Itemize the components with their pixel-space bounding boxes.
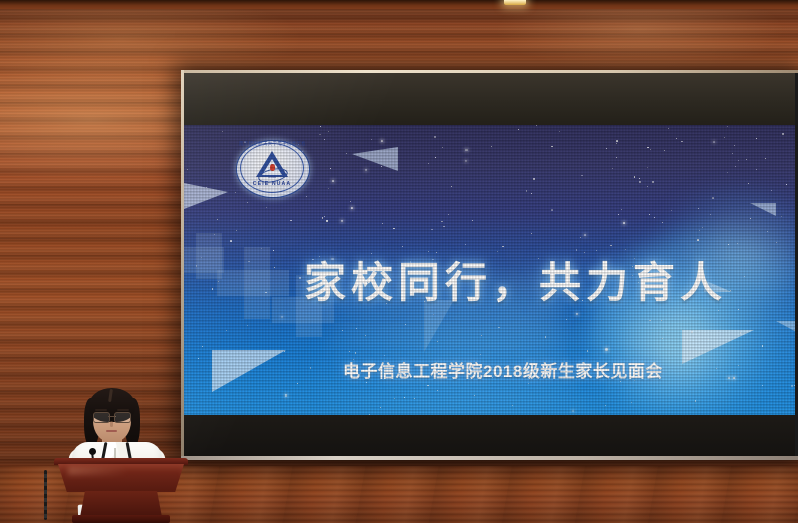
star bbox=[756, 169, 758, 171]
star bbox=[702, 227, 703, 228]
star bbox=[434, 136, 436, 138]
star bbox=[427, 385, 429, 387]
star bbox=[382, 223, 384, 225]
star bbox=[284, 351, 285, 352]
star bbox=[299, 277, 301, 279]
star bbox=[436, 252, 437, 253]
star bbox=[297, 383, 298, 384]
star bbox=[649, 214, 650, 215]
star bbox=[639, 178, 640, 179]
star bbox=[384, 355, 386, 357]
star bbox=[319, 256, 321, 258]
star bbox=[744, 276, 745, 277]
star bbox=[612, 168, 613, 169]
triangle-shape bbox=[424, 300, 454, 352]
star bbox=[649, 320, 650, 321]
star bbox=[712, 197, 714, 199]
star bbox=[551, 209, 553, 211]
star bbox=[621, 209, 622, 210]
star bbox=[222, 131, 223, 132]
star bbox=[273, 250, 274, 251]
star bbox=[746, 159, 747, 160]
star bbox=[782, 133, 784, 135]
screen-bezel-bottom bbox=[181, 456, 798, 460]
star bbox=[474, 395, 475, 396]
triangle-shape bbox=[750, 203, 776, 216]
star bbox=[587, 350, 589, 352]
ceiling-edge bbox=[0, 0, 798, 9]
star bbox=[381, 166, 382, 167]
star bbox=[274, 267, 275, 268]
star bbox=[201, 257, 202, 258]
star bbox=[647, 147, 649, 149]
star bbox=[393, 228, 395, 230]
star bbox=[214, 234, 215, 235]
slide-title: 家校同行，共力育人 bbox=[304, 262, 727, 304]
star bbox=[692, 358, 693, 359]
plus-shape bbox=[196, 233, 222, 279]
star bbox=[215, 358, 216, 359]
star bbox=[738, 309, 739, 310]
star bbox=[616, 157, 617, 158]
presentation-slide: 南京航空航天大学电子信息工程学院 1956 CEIE NUAA 家校同行，共力育… bbox=[184, 125, 795, 415]
star bbox=[652, 181, 654, 183]
star bbox=[623, 222, 625, 224]
eyeglasses-icon bbox=[93, 412, 131, 421]
star bbox=[606, 148, 607, 149]
led-screen[interactable]: 南京航空航天大学电子信息工程学院 1956 CEIE NUAA 家校同行，共力育… bbox=[181, 70, 798, 460]
star bbox=[765, 158, 766, 159]
star bbox=[341, 220, 343, 222]
star bbox=[681, 141, 683, 143]
star bbox=[324, 216, 326, 218]
star bbox=[480, 354, 481, 355]
star bbox=[551, 146, 553, 148]
star bbox=[356, 328, 357, 329]
star bbox=[465, 160, 467, 162]
star bbox=[710, 214, 711, 215]
star bbox=[748, 183, 749, 184]
star bbox=[531, 193, 533, 195]
star bbox=[448, 214, 449, 215]
podium-column bbox=[80, 491, 162, 517]
star bbox=[584, 234, 586, 236]
screen-letterbox-bottom bbox=[184, 415, 795, 457]
star bbox=[650, 320, 651, 321]
star bbox=[247, 325, 248, 326]
star bbox=[226, 330, 227, 331]
star bbox=[727, 126, 728, 127]
star bbox=[639, 181, 641, 183]
star bbox=[465, 149, 467, 151]
star bbox=[428, 251, 429, 252]
conference-hall-scene: 南京航空航天大学电子信息工程学院 1956 CEIE NUAA 家校同行，共力育… bbox=[0, 0, 798, 523]
star bbox=[762, 345, 764, 347]
eyebrow-left bbox=[95, 409, 107, 411]
star bbox=[704, 332, 705, 333]
logo-flame-dot bbox=[270, 164, 275, 171]
star bbox=[319, 134, 321, 136]
star bbox=[750, 218, 751, 219]
star bbox=[328, 188, 329, 189]
star bbox=[431, 229, 433, 231]
screen-letterbox-top bbox=[184, 73, 795, 125]
star bbox=[545, 336, 547, 338]
star bbox=[738, 160, 739, 161]
star bbox=[330, 168, 331, 169]
star bbox=[218, 281, 219, 282]
star bbox=[380, 407, 381, 408]
star bbox=[355, 352, 357, 354]
star bbox=[730, 290, 731, 291]
star bbox=[559, 131, 560, 132]
star bbox=[605, 405, 606, 406]
star bbox=[662, 222, 663, 223]
star bbox=[727, 172, 728, 173]
star bbox=[576, 313, 578, 315]
star bbox=[349, 351, 350, 352]
microphone-cable bbox=[44, 470, 47, 520]
triangle-shape bbox=[682, 330, 754, 364]
podium-front-panel bbox=[58, 464, 184, 492]
star bbox=[365, 169, 367, 171]
plus-shape bbox=[244, 247, 270, 319]
star bbox=[437, 390, 438, 391]
star bbox=[346, 153, 347, 154]
lens-left bbox=[93, 412, 110, 423]
star bbox=[443, 226, 445, 228]
star bbox=[762, 385, 764, 387]
podium-base bbox=[72, 515, 170, 523]
star bbox=[616, 143, 617, 144]
star bbox=[647, 186, 648, 187]
plus-shape bbox=[217, 270, 289, 296]
star bbox=[405, 324, 406, 325]
star bbox=[481, 335, 483, 337]
star bbox=[695, 400, 697, 402]
star bbox=[404, 397, 406, 399]
plus-shape bbox=[184, 247, 224, 273]
star bbox=[572, 410, 574, 412]
star bbox=[531, 233, 532, 234]
logo-english-abbrev: CEIE NUAA bbox=[236, 181, 308, 187]
star bbox=[735, 166, 736, 167]
triangle-shape bbox=[184, 183, 228, 209]
triangle-shape bbox=[212, 350, 286, 392]
star bbox=[581, 175, 583, 177]
star bbox=[196, 265, 198, 267]
star bbox=[533, 178, 535, 180]
star bbox=[371, 253, 372, 254]
triangle-shape bbox=[352, 147, 398, 171]
star bbox=[605, 348, 607, 350]
star bbox=[618, 214, 619, 215]
nose bbox=[110, 421, 113, 427]
eyebrow-right bbox=[117, 409, 129, 411]
star bbox=[699, 230, 700, 231]
star bbox=[580, 237, 581, 238]
star bbox=[566, 319, 568, 321]
star bbox=[708, 339, 709, 340]
star bbox=[187, 169, 188, 170]
star bbox=[634, 176, 636, 178]
star bbox=[668, 128, 670, 130]
star bbox=[497, 251, 498, 252]
star bbox=[217, 219, 218, 220]
ceiling-light-icon bbox=[504, 0, 526, 5]
star bbox=[266, 207, 267, 208]
star bbox=[654, 217, 655, 218]
star bbox=[518, 129, 519, 130]
triangle-shape bbox=[776, 321, 795, 334]
star bbox=[776, 242, 777, 243]
star bbox=[435, 157, 436, 158]
star bbox=[498, 327, 500, 329]
star bbox=[661, 320, 662, 321]
star bbox=[791, 385, 793, 387]
star bbox=[713, 141, 715, 143]
star bbox=[733, 377, 735, 379]
podium bbox=[54, 458, 188, 523]
star bbox=[528, 383, 529, 384]
star bbox=[631, 402, 632, 403]
star bbox=[320, 126, 321, 127]
star bbox=[451, 186, 452, 187]
star bbox=[732, 153, 733, 154]
star bbox=[230, 240, 232, 242]
star bbox=[671, 210, 672, 211]
microphone-icon bbox=[89, 448, 96, 455]
nebula-cloud bbox=[585, 230, 795, 415]
star bbox=[756, 138, 758, 140]
star bbox=[786, 184, 788, 186]
star bbox=[647, 167, 648, 168]
star bbox=[351, 207, 353, 209]
star bbox=[676, 138, 677, 139]
star bbox=[728, 244, 729, 245]
star bbox=[290, 220, 292, 222]
star bbox=[616, 140, 618, 142]
star bbox=[781, 216, 782, 217]
star bbox=[771, 190, 772, 191]
star bbox=[737, 243, 739, 245]
star bbox=[691, 331, 693, 333]
star bbox=[414, 398, 415, 399]
star bbox=[281, 316, 283, 318]
star bbox=[332, 180, 334, 182]
star bbox=[698, 208, 699, 209]
star bbox=[442, 147, 443, 148]
star bbox=[536, 125, 537, 126]
star bbox=[212, 288, 214, 290]
podium-top bbox=[54, 458, 188, 465]
star bbox=[428, 163, 429, 164]
star bbox=[198, 358, 199, 359]
slide-subtitle: 电子信息工程学院2018级新生家长见面会 bbox=[343, 357, 663, 382]
star bbox=[236, 230, 237, 231]
star bbox=[794, 385, 795, 386]
star bbox=[265, 292, 267, 294]
logo-year: 1956 bbox=[236, 175, 308, 179]
star bbox=[625, 249, 626, 250]
star bbox=[728, 377, 730, 379]
star bbox=[664, 150, 666, 152]
star bbox=[596, 250, 598, 252]
star bbox=[650, 149, 651, 150]
university-logo: 南京航空航天大学电子信息工程学院 1956 CEIE NUAA bbox=[236, 140, 308, 196]
star bbox=[381, 140, 383, 142]
star bbox=[767, 231, 768, 232]
star bbox=[472, 220, 473, 221]
star bbox=[738, 365, 739, 366]
star bbox=[328, 131, 329, 132]
star bbox=[366, 382, 367, 383]
star bbox=[285, 394, 287, 396]
lens-right bbox=[114, 412, 131, 423]
star bbox=[512, 405, 513, 406]
star bbox=[247, 202, 248, 203]
star bbox=[433, 314, 434, 315]
star bbox=[342, 330, 343, 331]
star bbox=[610, 245, 612, 247]
star bbox=[718, 310, 719, 311]
star bbox=[350, 201, 352, 203]
star bbox=[248, 261, 250, 263]
star bbox=[437, 341, 438, 342]
star bbox=[716, 368, 717, 369]
star bbox=[365, 335, 366, 336]
star bbox=[371, 139, 372, 140]
star bbox=[394, 398, 396, 400]
star bbox=[441, 221, 443, 223]
star bbox=[326, 220, 328, 222]
star bbox=[740, 332, 742, 334]
star bbox=[697, 239, 699, 241]
star bbox=[724, 137, 725, 138]
star bbox=[576, 249, 578, 251]
star bbox=[206, 187, 207, 188]
star bbox=[584, 252, 585, 253]
star bbox=[322, 217, 324, 219]
star bbox=[465, 244, 466, 245]
star bbox=[502, 246, 504, 248]
star bbox=[662, 338, 663, 339]
star bbox=[202, 346, 203, 347]
star bbox=[491, 146, 492, 147]
star bbox=[261, 248, 263, 250]
star bbox=[310, 367, 312, 369]
star bbox=[526, 190, 528, 192]
star bbox=[324, 139, 325, 140]
star bbox=[734, 145, 735, 146]
star bbox=[402, 246, 404, 248]
